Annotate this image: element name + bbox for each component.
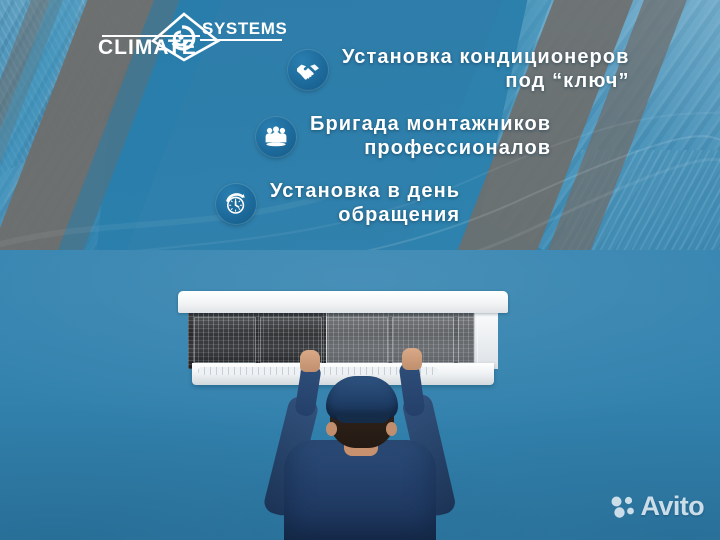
technician-left-ear [326,422,337,436]
fast-clock-icon [216,184,256,224]
technician-right-hand [402,348,422,370]
logo-text-systems: SYSTEMS [202,19,286,38]
feature-line-1: Установка кондиционеров [342,46,630,70]
technician-right-ear [386,422,397,436]
feature-item-same-day-installation: Установка в день обращения [0,180,720,227]
air-conditioner-unit [178,291,508,387]
feature-text: Установка в день обращения [270,180,460,227]
technician-left-hand [300,350,320,372]
feature-item-turnkey-installation: Установка кондиционеров под “ключ” [0,46,720,93]
feature-line-2: профессионалов [310,137,551,161]
feature-text: Установка кондиционеров под “ключ” [342,46,630,93]
avito-watermark: Avito [610,491,705,522]
avito-dots-icon [610,496,636,518]
feature-line-2: под “ключ” [342,70,630,94]
feature-item-professional-team: Бригада монтажников профессионалов [0,113,720,160]
feature-line-1: Бригада монтажников [310,113,551,137]
feature-list: Установка кондиционеров под “ключ” Брига… [0,46,720,248]
feature-line-2: обращения [270,204,460,228]
handshake-icon [288,50,328,90]
technician-cap-brim [336,414,390,423]
feature-text: Бригада монтажников профессионалов [310,113,551,160]
technician-figure [256,378,466,540]
ac-top-cover [178,291,508,313]
advertisement-banner: CLIMATE SYSTEMS Установка кондиционеров … [0,0,720,540]
ac-coil-segment [194,317,256,363]
three-people-icon [256,117,296,157]
feature-line-1: Установка в день [270,180,460,204]
avito-label: Avito [641,491,705,522]
